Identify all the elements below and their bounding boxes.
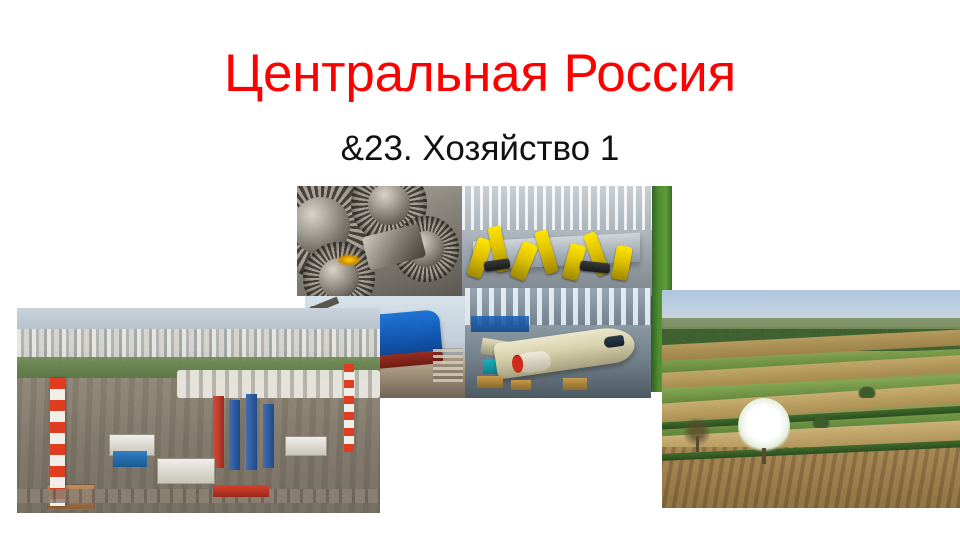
page-title: Центральная Россия [0,44,960,104]
hangar-blue-panel [471,316,529,332]
refinery-building [285,436,327,456]
bare-tree [684,418,710,452]
blossoming-tree [738,398,790,454]
rail-yard [17,489,380,503]
smokestack-striped [50,378,65,506]
photo-robotic-assembly-line [462,186,652,296]
red-rail-car [213,485,269,497]
distillation-column [263,404,274,468]
scaffolding [433,348,463,382]
distillation-column [246,394,257,470]
presentation-slide: Центральная Россия &23. Хозяйство 1 [0,0,960,540]
distillation-column [229,400,240,470]
photo-aircraft-assembly [465,288,651,398]
photo-farm-fields [662,290,960,508]
refinery-building [157,458,215,484]
factory-hall-ceiling [462,186,652,230]
page-subtitle: &23. Хозяйство 1 [0,128,960,170]
spark-highlight [337,254,361,266]
hangar-crate [511,380,531,390]
smokestack-secondary [344,364,354,452]
blue-equipment [113,451,147,467]
hangar-crate [563,378,587,390]
photo-gears [297,186,462,296]
field-bush [812,416,830,428]
photo-oil-refinery [17,308,380,513]
hangar-crate [477,376,503,388]
field-bush [858,386,876,398]
